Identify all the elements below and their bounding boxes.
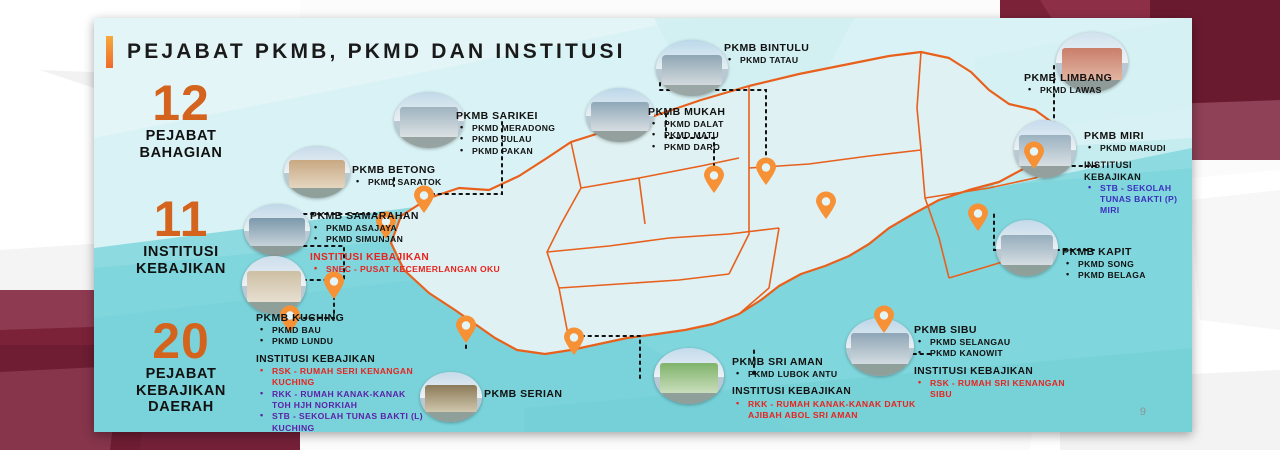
label-institutions: RKK - RUMAH KANAK-KANAK DATUK AJIBAH ABO… (732, 399, 922, 422)
label-heading: PKMB BETONG (352, 164, 442, 177)
label-institution-item: SNEC - PUSAT KECEMERLANGAN OKU (310, 264, 500, 275)
label-items: PKMD MARUDI (1084, 143, 1180, 154)
label-items: PKMD SARATOK (352, 177, 442, 188)
label-institution-item: STB - SEKOLAH TUNAS BAKTI (P) MIRI (1084, 183, 1180, 217)
label-item: PKMD PAKAN (456, 146, 555, 157)
page-number: 9 (1140, 406, 1146, 418)
label-item: PKMD TATAU (724, 55, 809, 66)
label-institution-heading: INSTITUSI KEBAJIKAN (914, 366, 1074, 378)
slide-panel: PEJABAT PKMB, PKMD DAN INSTITUSI 12 PEJA… (94, 18, 1192, 432)
label-items: PKMD TATAU (724, 55, 809, 66)
label-item: PKMD SONG (1062, 259, 1146, 270)
label-item: PKMD SELANGAU (914, 337, 1074, 348)
label-sibu: PKMB SIBU PKMD SELANGAU PKMD KANOWIT INS… (914, 324, 1074, 401)
pin-samarahan (324, 272, 344, 300)
label-items: PKMD ASAJAYA PKMD SIMUNJAN (310, 223, 500, 246)
label-kapit: PKMB KAPIT PKMD SONG PKMD BELAGA (1062, 246, 1146, 282)
label-items: PKMD LAWAS (1024, 85, 1112, 96)
label-institution-heading: INSTITUSI KEBAJIKAN (256, 354, 424, 366)
pin-miri (816, 192, 836, 220)
label-item: PKMD BAU (256, 325, 424, 336)
label-item: PKMD KANOWIT (914, 348, 1074, 359)
label-institutions: RSK - RUMAH SRI KENANGAN SIBU (914, 378, 1074, 401)
label-item: PKMD SARATOK (352, 177, 442, 188)
label-item: PKMD BELAGA (1062, 270, 1146, 281)
label-heading: PKMB BINTULU (724, 42, 809, 55)
label-sri-aman: PKMB SRI AMAN PKMD LUBOK ANTU INSTITUSI … (732, 356, 922, 421)
label-item: PKMD LUBOK ANTU (732, 369, 922, 380)
label-items: PKMD SELANGAU PKMD KANOWIT (914, 337, 1074, 360)
label-institutions: SNEC - PUSAT KECEMERLANGAN OKU (310, 264, 500, 275)
label-items: PKMD BAU PKMD LUNDU (256, 325, 424, 348)
label-item: PKMD MATU (648, 130, 725, 141)
pin-sarikei (414, 186, 434, 214)
label-institution-heading: INSTITUSI KEBAJIKAN (732, 386, 922, 398)
label-samarahan: PKMB SAMARAHAN PKMD ASAJAYA PKMD SIMUNJA… (310, 210, 500, 275)
label-heading: PKMB KAPIT (1062, 246, 1146, 259)
label-item: PKMD DARO (648, 142, 725, 153)
label-sarikei: PKMB SARIKEI PKMD MERADONG PKMD JULAU PK… (456, 110, 555, 157)
label-heading: PKMB SAMARAHAN (310, 210, 500, 223)
label-item: PKMD SIMUNJAN (310, 234, 500, 245)
label-heading: PKMB MUKAH (648, 106, 725, 119)
label-heading: PKMB MIRI (1084, 130, 1180, 143)
label-item: PKMD MARUDI (1084, 143, 1180, 154)
label-institutions: RSK - RUMAH SERI KENANGAN KUCHING RKK - … (256, 366, 424, 432)
label-items: PKMD SONG PKMD BELAGA (1062, 259, 1146, 282)
label-institution-heading: INSTITUSI KEBAJIKAN (310, 252, 500, 264)
label-institution-item: RSK - RUMAH SRI KENANGAN SIBU (914, 378, 1074, 401)
label-item: PKMD LAWAS (1024, 85, 1112, 96)
pin-sri-aman (564, 328, 584, 356)
label-miri: PKMB MIRI PKMD MARUDI INSTITUSI KEBAJIKA… (1084, 130, 1180, 217)
pin-kapit (968, 204, 988, 232)
label-institutions: STB - SEKOLAH TUNAS BAKTI (P) MIRI (1084, 183, 1180, 217)
label-item: PKMD ASAJAYA (310, 223, 500, 234)
label-heading: PKMB KUCHING (256, 312, 424, 325)
label-institution-item: RKK - RUMAH KANAK-KANAK DATUK AJIBAH ABO… (732, 399, 922, 422)
label-heading: PKMB SIBU (914, 324, 1074, 337)
label-items: PKMD MERADONG PKMD JULAU PKMD PAKAN (456, 123, 555, 157)
label-institution-item: RSK - RUMAH SERI KENANGAN KUCHING (256, 366, 424, 389)
pin-bintulu (756, 158, 776, 186)
label-item: PKMD DALAT (648, 119, 725, 130)
pin-limbang (1024, 142, 1044, 170)
label-heading: PKMB SRI AMAN (732, 356, 922, 369)
label-serian: PKMB SERIAN (484, 388, 562, 401)
label-institution-item: STB - SEKOLAH TUNAS BAKTI (L) KUCHING (256, 411, 424, 432)
label-betong: PKMB BETONG PKMD SARATOK (352, 164, 442, 188)
label-items: PKMD DALAT PKMD MATU PKMD DARO (648, 119, 725, 153)
label-limbang: PKMB LIMBANG PKMD LAWAS (1024, 72, 1112, 96)
label-mukah: PKMB MUKAH PKMD DALAT PKMD MATU PKMD DAR… (648, 106, 725, 153)
label-item: PKMD LUNDU (256, 336, 424, 347)
label-bintulu: PKMB BINTULU PKMD TATAU (724, 42, 809, 66)
label-institution-item: RKK - RUMAH KANAK-KANAK TOH HJH NORKIAH (256, 389, 424, 412)
label-items: PKMD LUBOK ANTU (732, 369, 922, 380)
label-heading: PKMB SARIKEI (456, 110, 555, 123)
pin-mukah (704, 166, 724, 194)
pin-serian (456, 316, 476, 344)
label-heading: PKMB LIMBANG (1024, 72, 1112, 85)
label-item: PKMD MERADONG (456, 123, 555, 134)
label-kuching: PKMB KUCHING PKMD BAU PKMD LUNDU INSTITU… (256, 312, 424, 432)
label-institution-heading: INSTITUSI KEBAJIKAN (1084, 160, 1180, 182)
label-item: PKMD JULAU (456, 134, 555, 145)
label-heading: PKMB SERIAN (484, 388, 562, 401)
pin-sibu (874, 306, 894, 334)
